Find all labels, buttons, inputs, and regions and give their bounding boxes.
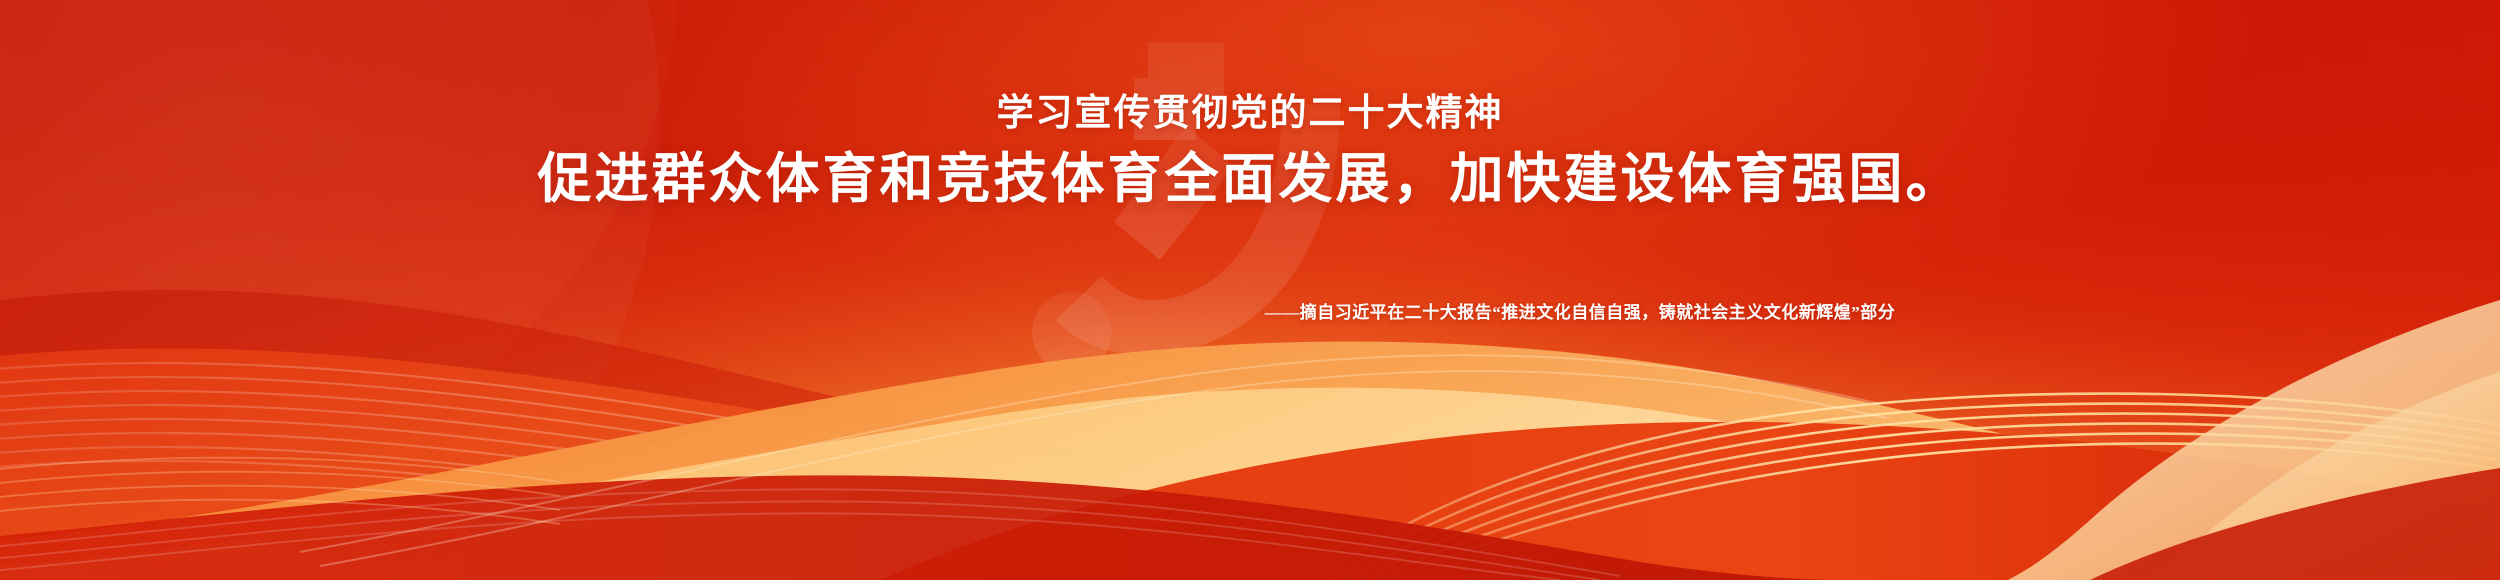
propaganda-banner: 学习宣传贯彻党的二十大精神 促进群众体育和竞技体育全面发展，加快建设体育强国。 … (0, 0, 2500, 580)
secondary-headline: 学习宣传贯彻党的二十大精神 (0, 82, 2500, 136)
page-title: 促进群众体育和竞技体育全面发展，加快建设体育强国。 (0, 134, 2500, 213)
attribution: ——摘自习近平在二十大报告“推进文化自信自强，铸就社会主义文化新辉煌”部分 (0, 298, 2500, 323)
attribution-text: ——摘自习近平在二十大报告“推进文化自信自强，铸就社会主义文化新辉煌”部分 (1265, 298, 1896, 323)
